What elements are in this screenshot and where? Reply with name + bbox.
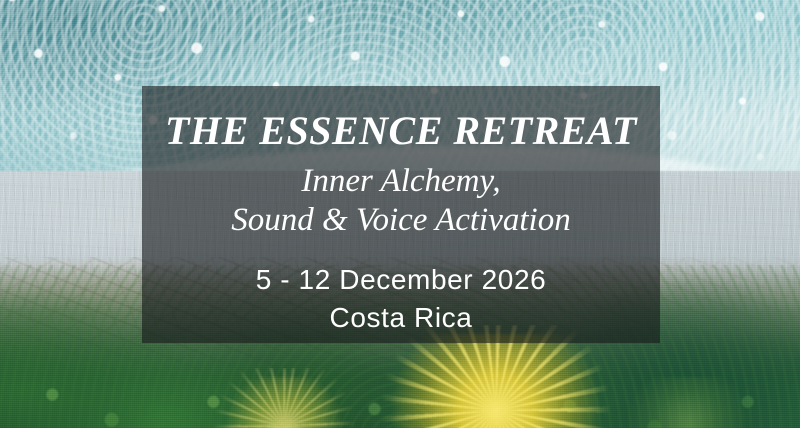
event-location: Costa Rica: [256, 300, 547, 336]
right-palm-crown: [616, 377, 760, 428]
event-details: 5 - 12 December 2026 Costa Rica: [256, 262, 547, 336]
retreat-promo-banner: THE ESSENCE RETREAT Inner Alchemy, Sound…: [0, 0, 800, 428]
event-subheadline-line-1: Inner Alchemy,: [301, 163, 500, 199]
text-overlay-panel: THE ESSENCE RETREAT Inner Alchemy, Sound…: [142, 86, 660, 343]
secondary-palm-fronds: [200, 368, 368, 428]
event-subheadline: Inner Alchemy, Sound & Voice Activation: [231, 162, 570, 240]
event-dates: 5 - 12 December 2026: [256, 264, 547, 295]
event-subheadline-line-2: Sound & Voice Activation: [231, 201, 570, 240]
event-headline: THE ESSENCE RETREAT: [165, 110, 637, 152]
